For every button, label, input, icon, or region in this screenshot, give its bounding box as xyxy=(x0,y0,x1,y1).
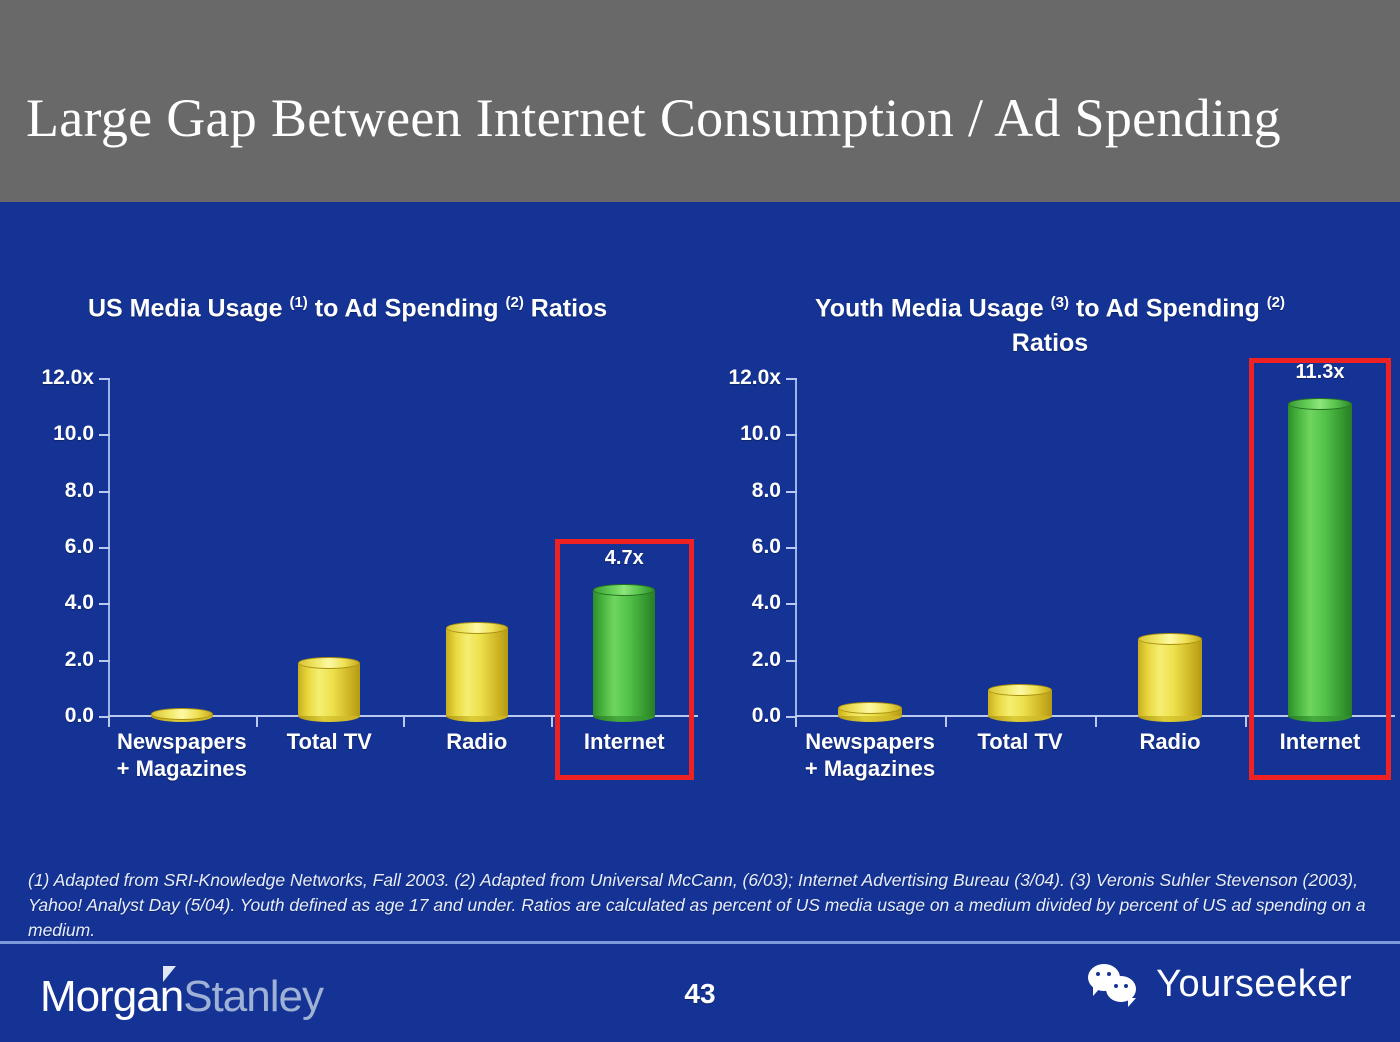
y-tick-label: 0.0 xyxy=(752,704,781,728)
slide: Large Gap Between Internet Consumption /… xyxy=(0,0,1400,1042)
y-tick-label: 2.0 xyxy=(752,648,781,672)
y-tick-label: 12.0x xyxy=(728,366,781,390)
bar-radio xyxy=(446,378,508,716)
x-tick-mark xyxy=(1095,716,1097,727)
category-label-line: Radio xyxy=(1095,728,1245,755)
footnote-text: (1) Adapted from SRI-Knowledge Networks,… xyxy=(28,868,1370,943)
category-label: Radio xyxy=(1095,728,1245,755)
y-tick-label: 10.0 xyxy=(740,422,781,446)
y-tick-label: 8.0 xyxy=(752,479,781,503)
category-label-line: Total TV xyxy=(945,728,1095,755)
bar-newspapers-magazines xyxy=(151,378,213,716)
footer-divider xyxy=(0,941,1400,944)
wechat-bubbles-icon xyxy=(1088,962,1144,1006)
x-tick-mark xyxy=(108,716,110,727)
category-label-line: Internet xyxy=(551,728,699,755)
bar-total-tv xyxy=(988,378,1052,716)
category-label: Internet xyxy=(551,728,699,755)
category-label-line: Newspapers xyxy=(795,728,945,755)
y-tick-mark xyxy=(786,603,797,605)
chart-title-left-footnote-2: (2) xyxy=(505,294,523,311)
chart-title-right-footnote-3: (3) xyxy=(1051,294,1069,311)
plot-area-left: 0.02.04.06.08.010.012.0x 4.7x xyxy=(108,378,698,716)
category-label: Radio xyxy=(403,728,551,755)
chart-panel-us-media-usage: US Media Usage (1) to Ad Spending (2) Ra… xyxy=(0,202,720,832)
y-tick-mark xyxy=(99,660,110,662)
bar-cylinder xyxy=(151,708,213,716)
x-tick-mark xyxy=(1245,716,1247,727)
bar-newspapers-magazines xyxy=(838,378,902,716)
bar-total-tv xyxy=(298,378,360,716)
x-tick-mark xyxy=(795,716,797,727)
category-label-line: Radio xyxy=(403,728,551,755)
y-tick-mark xyxy=(99,547,110,549)
category-label: Internet xyxy=(1245,728,1395,755)
y-tick-label: 6.0 xyxy=(65,535,94,559)
chart-title-left-part-b: to Ad Spending xyxy=(315,294,499,322)
bar-radio xyxy=(1138,378,1202,716)
plot-area-right: 0.02.04.06.08.010.012.0x 11.3x xyxy=(795,378,1395,716)
y-tick-mark xyxy=(786,378,797,380)
y-tick-mark xyxy=(99,378,110,380)
y-tick-label: 10.0 xyxy=(53,422,94,446)
category-label: Newspapers+ Magazines xyxy=(108,728,256,782)
y-tick-label: 0.0 xyxy=(65,704,94,728)
x-tick-mark xyxy=(945,716,947,727)
category-label-line: + Magazines xyxy=(795,755,945,782)
yourseeker-watermark: Yourseeker xyxy=(1088,962,1352,1006)
category-label: Total TV xyxy=(256,728,404,755)
category-label-line: + Magazines xyxy=(108,755,256,782)
y-tick-mark xyxy=(99,434,110,436)
y-tick-label: 4.0 xyxy=(65,591,94,615)
chart-title-right-part-b: to Ad Spending xyxy=(1076,294,1260,322)
bar-cylinder xyxy=(298,657,360,716)
x-tick-mark xyxy=(551,716,553,727)
y-tick-mark xyxy=(786,434,797,436)
category-label: Total TV xyxy=(945,728,1095,755)
y-tick-mark xyxy=(99,603,110,605)
y-tick-label: 6.0 xyxy=(752,535,781,559)
x-tick-mark xyxy=(403,716,405,727)
y-tick-mark xyxy=(786,491,797,493)
chart-panel-youth-media-usage: Youth Media Usage (3) to Ad Spending (2)… xyxy=(700,202,1400,832)
bar-cylinder xyxy=(446,622,508,716)
y-tick-mark xyxy=(786,547,797,549)
bar-value-label: 4.7x xyxy=(605,547,644,570)
chart-title-right-part-a: Youth Media Usage xyxy=(815,294,1044,322)
chart-title-right: Youth Media Usage (3) to Ad Spending (2)… xyxy=(700,285,1400,361)
bar-cylinder xyxy=(1288,398,1352,716)
bar-value-label: 11.3x xyxy=(1296,361,1345,384)
chart-title-left-part-c: Ratios xyxy=(531,294,607,322)
x-tick-mark xyxy=(256,716,258,727)
category-label: Newspapers+ Magazines xyxy=(795,728,945,782)
y-tick-label: 12.0x xyxy=(41,366,94,390)
category-label-line: Total TV xyxy=(256,728,404,755)
category-label-line: Newspapers xyxy=(108,728,256,755)
chart-title-left-footnote-1: (1) xyxy=(289,294,307,311)
y-tick-mark xyxy=(786,660,797,662)
bar-cylinder xyxy=(988,684,1052,716)
bar-cylinder xyxy=(1138,633,1202,716)
brand-name-label: Yourseeker xyxy=(1156,963,1352,1006)
bar-internet: 11.3x xyxy=(1288,378,1352,716)
chart-title-right-footnote-2: (2) xyxy=(1267,294,1285,311)
bar-internet: 4.7x xyxy=(593,378,655,716)
y-tick-label: 2.0 xyxy=(65,648,94,672)
bar-cylinder xyxy=(838,702,902,716)
y-tick-label: 4.0 xyxy=(752,591,781,615)
chart-title-left: US Media Usage (1) to Ad Spending (2) Ra… xyxy=(0,285,720,326)
y-tick-label: 8.0 xyxy=(65,479,94,503)
page-title: Large Gap Between Internet Consumption /… xyxy=(26,88,1386,148)
chart-title-left-part-a: US Media Usage xyxy=(88,294,283,322)
category-label-line: Internet xyxy=(1245,728,1395,755)
y-tick-mark xyxy=(99,491,110,493)
bar-cylinder xyxy=(593,584,655,716)
chart-title-right-part-c: Ratios xyxy=(1012,329,1088,357)
